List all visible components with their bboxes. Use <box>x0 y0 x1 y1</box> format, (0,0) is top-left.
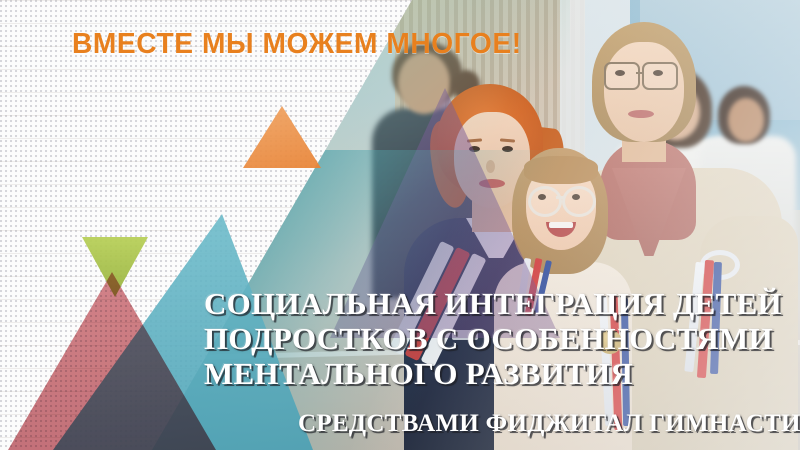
headline-slogan: ВМЕСТЕ МЫ МОЖЕМ МНОГОЕ! <box>72 28 522 61</box>
title-line-3: МЕНТАЛЬНОГО РАЗВИТИЯ <box>204 356 800 391</box>
title-block: СОЦИАЛЬНАЯ ИНТЕГРАЦИЯ ДЕТЕЙ ПОДРОСТКОВ С… <box>204 286 800 391</box>
subtitle-text: СРЕДСТВАМИ ФИДЖИТАЛ ГИМНАСТИКИ <box>298 410 800 438</box>
title-line-2: ПОДРОСТКОВ С ОСОБЕННОСТЯМИ <box>204 321 800 356</box>
title-line-1: СОЦИАЛЬНАЯ ИНТЕГРАЦИЯ ДЕТЕЙ <box>204 286 800 321</box>
poster-canvas: ВМЕСТЕ МЫ МОЖЕМ МНОГОЕ! СОЦИАЛЬНАЯ ИНТЕГ… <box>0 0 800 450</box>
